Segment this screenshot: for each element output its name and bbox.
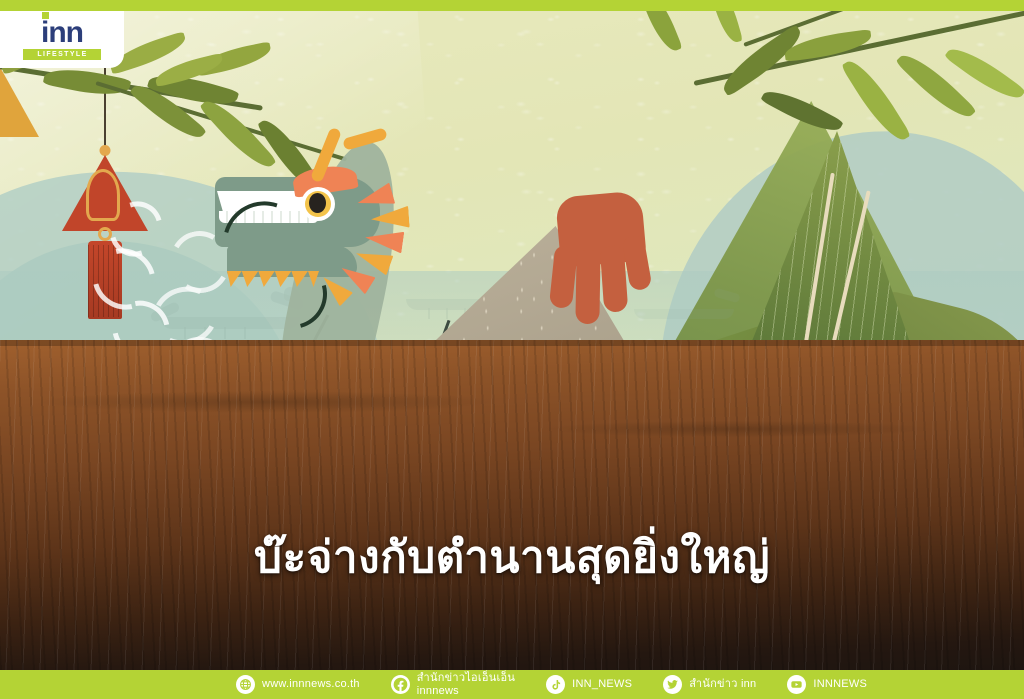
footer-facebook-line2: innnews bbox=[417, 685, 515, 697]
illustration-stage: บ๊ะจ่างกับตำนานสุดยิ่งใหญ่ bbox=[0, 11, 1024, 670]
logo-wordmark: inn bbox=[41, 19, 83, 47]
bamboo-branch bbox=[618, 11, 818, 115]
wood-grain bbox=[0, 366, 1024, 456]
footer-item-facebook[interactable]: สำนักข่าวไอเอ็นเอ็น innnews bbox=[391, 672, 515, 697]
top-accent-bar bbox=[0, 0, 1024, 11]
footer-item-tiktok[interactable]: INN_NEWS bbox=[546, 675, 632, 694]
article-card: บ๊ะจ่างกับตำนานสุดยิ่งใหญ่ www.innnews.c… bbox=[0, 0, 1024, 699]
footer-label-twitter: สำนักข่าว inn bbox=[689, 678, 756, 690]
logo-tagline: LIFESTYLE bbox=[23, 49, 100, 60]
footer-label-website: www.innnews.co.th bbox=[262, 678, 360, 690]
footer-item-twitter[interactable]: สำนักข่าว inn bbox=[663, 675, 756, 694]
footer-label-youtube: INNNEWS bbox=[813, 678, 867, 690]
wood-table bbox=[0, 340, 1024, 670]
twitter-icon bbox=[663, 675, 682, 694]
footer-item-youtube[interactable]: INNNEWS bbox=[787, 675, 867, 694]
footer-label-facebook: สำนักข่าวไอเอ็นเอ็น innnews bbox=[417, 672, 515, 697]
headline-container: บ๊ะจ่างกับตำนานสุดยิ่งใหญ่ bbox=[0, 532, 1024, 584]
logo-dot-icon bbox=[42, 12, 49, 19]
footer-facebook-line1: สำนักข่าวไอเอ็นเอ็น bbox=[417, 672, 515, 684]
social-footer: www.innnews.co.th สำนักข่าวไอเอ็นเอ็น in… bbox=[0, 670, 1024, 699]
footer-label-tiktok: INN_NEWS bbox=[572, 678, 632, 690]
pork-piece bbox=[546, 188, 656, 326]
facebook-icon bbox=[391, 675, 410, 694]
globe-icon bbox=[236, 675, 255, 694]
footer-item-website[interactable]: www.innnews.co.th bbox=[236, 675, 360, 694]
youtube-icon bbox=[787, 675, 806, 694]
brand-logo[interactable]: inn LIFESTYLE bbox=[0, 11, 124, 68]
logo-text: inn bbox=[41, 16, 83, 49]
page-title: บ๊ะจ่างกับตำนานสุดยิ่งใหญ่ bbox=[254, 532, 770, 584]
tiktok-icon bbox=[546, 675, 565, 694]
